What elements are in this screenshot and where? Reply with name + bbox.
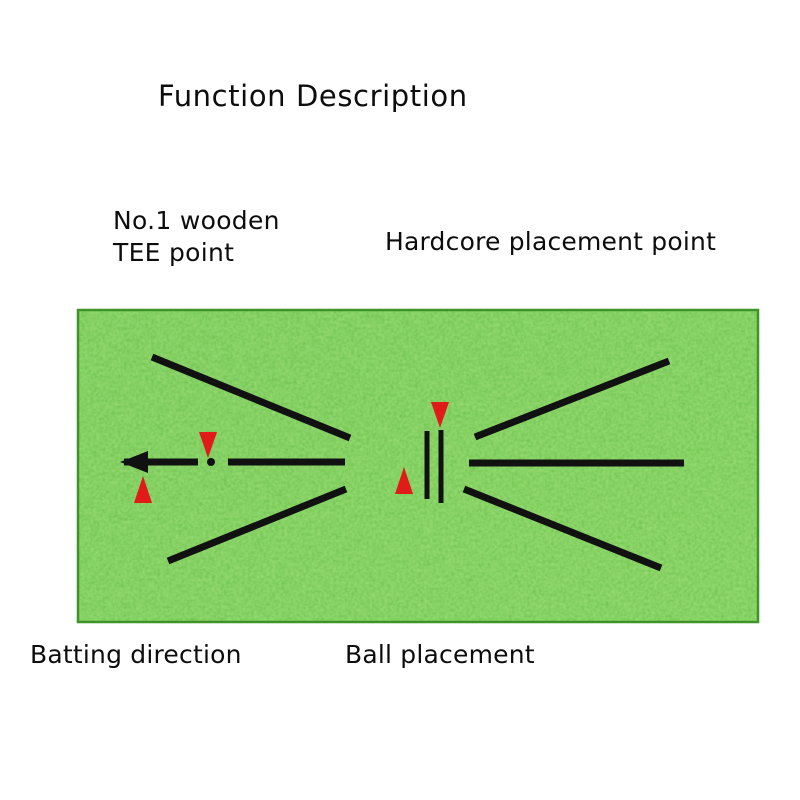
- diagram-canvas: [0, 0, 800, 800]
- label-tee-point-line2: TEE point: [113, 237, 280, 269]
- infographic-root: Function Description No.1 wooden TEE poi…: [0, 0, 800, 800]
- page-title: Function Description: [158, 78, 468, 115]
- label-tee-point: No.1 wooden TEE point: [113, 205, 280, 269]
- marking-tee-dot: [207, 458, 215, 466]
- label-tee-point-line1: No.1 wooden: [113, 206, 280, 235]
- label-batting-direction: Batting direction: [30, 639, 242, 671]
- label-ball-placement: Ball placement: [345, 639, 535, 671]
- label-hardcore-placement-point: Hardcore placement point: [385, 226, 716, 258]
